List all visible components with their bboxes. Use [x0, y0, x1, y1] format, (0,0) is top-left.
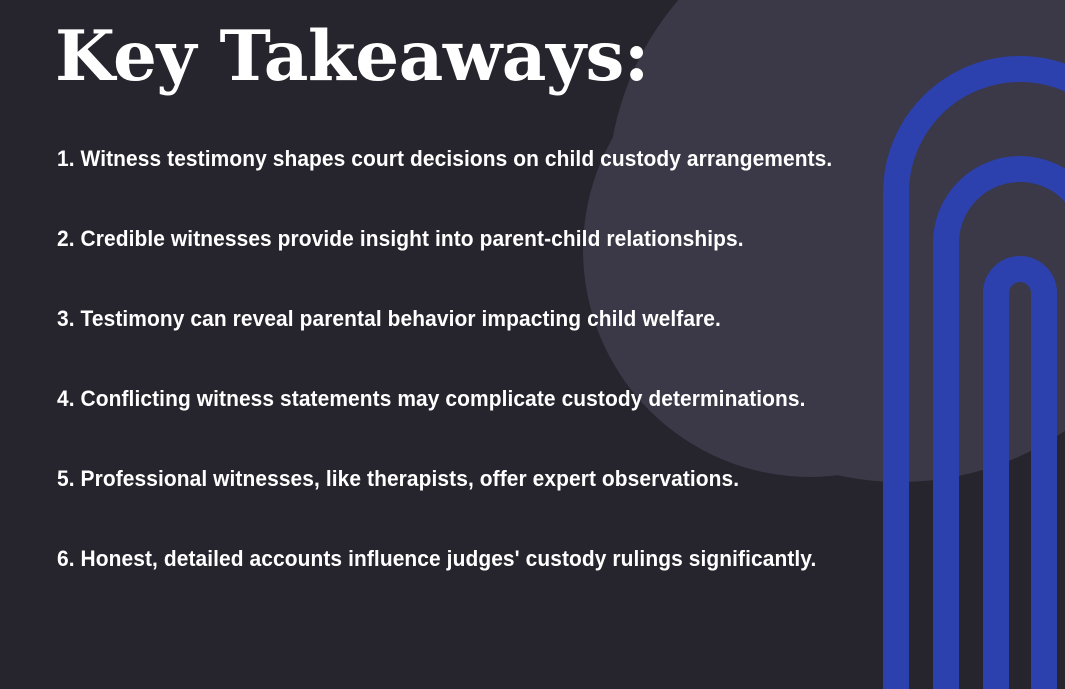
list-item: 1. Witness testimony shapes court decisi… [57, 148, 875, 228]
slide-canvas: Key Takeaways: 1. Witness testimony shap… [0, 0, 1065, 689]
list-item: 6. Honest, detailed accounts influence j… [57, 548, 875, 628]
takeaways-list: 1. Witness testimony shapes court decisi… [57, 148, 937, 628]
list-item: 3. Testimony can reveal parental behavio… [57, 308, 875, 388]
list-item: 4. Conflicting witness statements may co… [57, 388, 875, 468]
list-item: 2. Credible witnesses provide insight in… [57, 228, 875, 308]
slide-content: Key Takeaways: 1. Witness testimony shap… [0, 0, 1065, 689]
list-item: 5. Professional witnesses, like therapis… [57, 468, 875, 548]
page-title: Key Takeaways: [55, 22, 649, 91]
